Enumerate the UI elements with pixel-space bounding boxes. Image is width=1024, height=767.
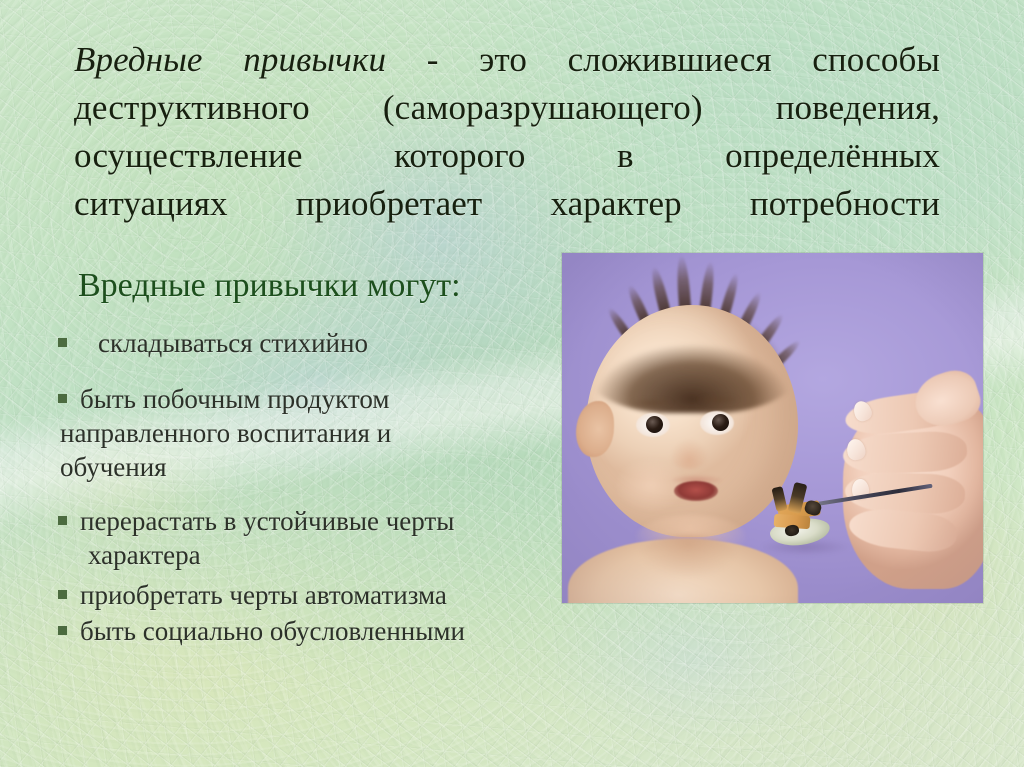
- list-item-line: перерастать в устойчивые черты: [80, 504, 588, 538]
- hair-spike: [675, 255, 692, 322]
- hand-finger: [844, 471, 965, 515]
- list-item: приобретать черты автоматизма: [58, 578, 588, 612]
- list-item-line: обучения: [60, 450, 588, 484]
- photo-backdrop: [562, 253, 983, 603]
- baby-hairline: [582, 297, 802, 413]
- baby-mouth: [674, 481, 718, 501]
- baby-shoulders: [568, 539, 798, 603]
- heading-line-3: осуществление которого в определённых: [74, 132, 940, 180]
- baby-iris: [646, 416, 663, 433]
- fingernail: [851, 478, 869, 499]
- slide-photo: [562, 253, 983, 603]
- hair-spike: [749, 312, 786, 358]
- slide-heading: Вредные привычки - это сложившиеся спосо…: [74, 36, 940, 228]
- list-item-text: быть побочным продуктом направленного во…: [80, 382, 588, 484]
- baby-chin: [636, 515, 746, 561]
- hand-finger: [843, 387, 963, 439]
- baby-upper-lip: [672, 475, 722, 485]
- list-item: складываться стихийно: [58, 326, 588, 360]
- list-item-line: складываться стихийно: [98, 326, 588, 360]
- slide-subtitle: Вредные привычки могут:: [78, 266, 461, 306]
- list-item-text: приобретать черты автоматизма: [80, 578, 588, 612]
- baby-eye: [700, 411, 734, 435]
- heading-lead-term: Вредные привычки: [74, 40, 386, 79]
- photo-vignette: [562, 253, 983, 603]
- baby-iris: [712, 414, 729, 431]
- square-bullet-icon: [58, 504, 80, 525]
- list-item: быть социально обусловленными: [58, 614, 588, 648]
- fingernail: [845, 437, 867, 461]
- hand-finger: [847, 505, 958, 554]
- adult-hand: [843, 399, 983, 589]
- bullet-list: складываться стихийно быть побочным прод…: [58, 326, 588, 648]
- heading-line-1-rest: - это сложившиеся способы: [386, 40, 940, 79]
- list-item: перерастать в устойчивые черты характера: [58, 504, 588, 572]
- hand-finger: [842, 430, 968, 476]
- square-bullet-icon: [58, 382, 80, 403]
- presentation-slide: Вредные привычки - это сложившиеся спосо…: [0, 0, 1024, 767]
- list-item: быть побочным продуктом направленного во…: [58, 382, 588, 484]
- list-item-line: приобретать черты автоматизма: [80, 578, 588, 612]
- hair-spike: [698, 261, 716, 322]
- list-item-text: быть социально обусловленными: [80, 614, 588, 648]
- baby-ear: [576, 401, 614, 457]
- cigarette-ash: [784, 524, 800, 537]
- cigarette-butt: [771, 486, 787, 512]
- baby-eyebrow: [632, 399, 672, 406]
- hand-thumb: [909, 364, 983, 433]
- list-item-text: перерастать в устойчивые черты характера: [80, 504, 588, 572]
- hair-spike: [716, 272, 741, 329]
- list-item-line: быть социально обусловленными: [80, 614, 588, 648]
- square-bullet-icon: [58, 578, 80, 599]
- list-item-line: направленного воспитания и: [60, 416, 588, 450]
- baby-head: [586, 305, 798, 537]
- baby-nose: [670, 439, 708, 469]
- baby-cheek: [616, 459, 686, 511]
- heading-line-2: деструктивного (саморазрушающего) поведе…: [74, 84, 940, 132]
- heading-line-1: Вредные привычки - это сложившиеся спосо…: [74, 36, 940, 84]
- hair-spike: [649, 265, 673, 322]
- hair-spike: [625, 283, 654, 331]
- slide-content: Вредные привычки - это сложившиеся спосо…: [0, 0, 1024, 767]
- heading-line-4: ситуациях приобретает характер потребнос…: [74, 180, 940, 228]
- baby-hair: [590, 261, 808, 429]
- fingernail: [851, 399, 874, 424]
- baby-eye: [636, 413, 670, 437]
- baby-eyebrow: [698, 396, 738, 403]
- square-bullet-icon: [58, 614, 80, 635]
- list-item-line: быть побочным продуктом: [80, 382, 588, 416]
- hair-spike: [733, 290, 765, 341]
- baby-neck: [640, 535, 736, 577]
- spoon-shadow: [762, 539, 848, 555]
- list-item-line: характера: [88, 538, 588, 572]
- list-item-text: складываться стихийно: [80, 326, 588, 360]
- hair-spike: [763, 338, 802, 376]
- square-bullet-icon: [58, 326, 80, 347]
- hair-spike: [605, 306, 636, 346]
